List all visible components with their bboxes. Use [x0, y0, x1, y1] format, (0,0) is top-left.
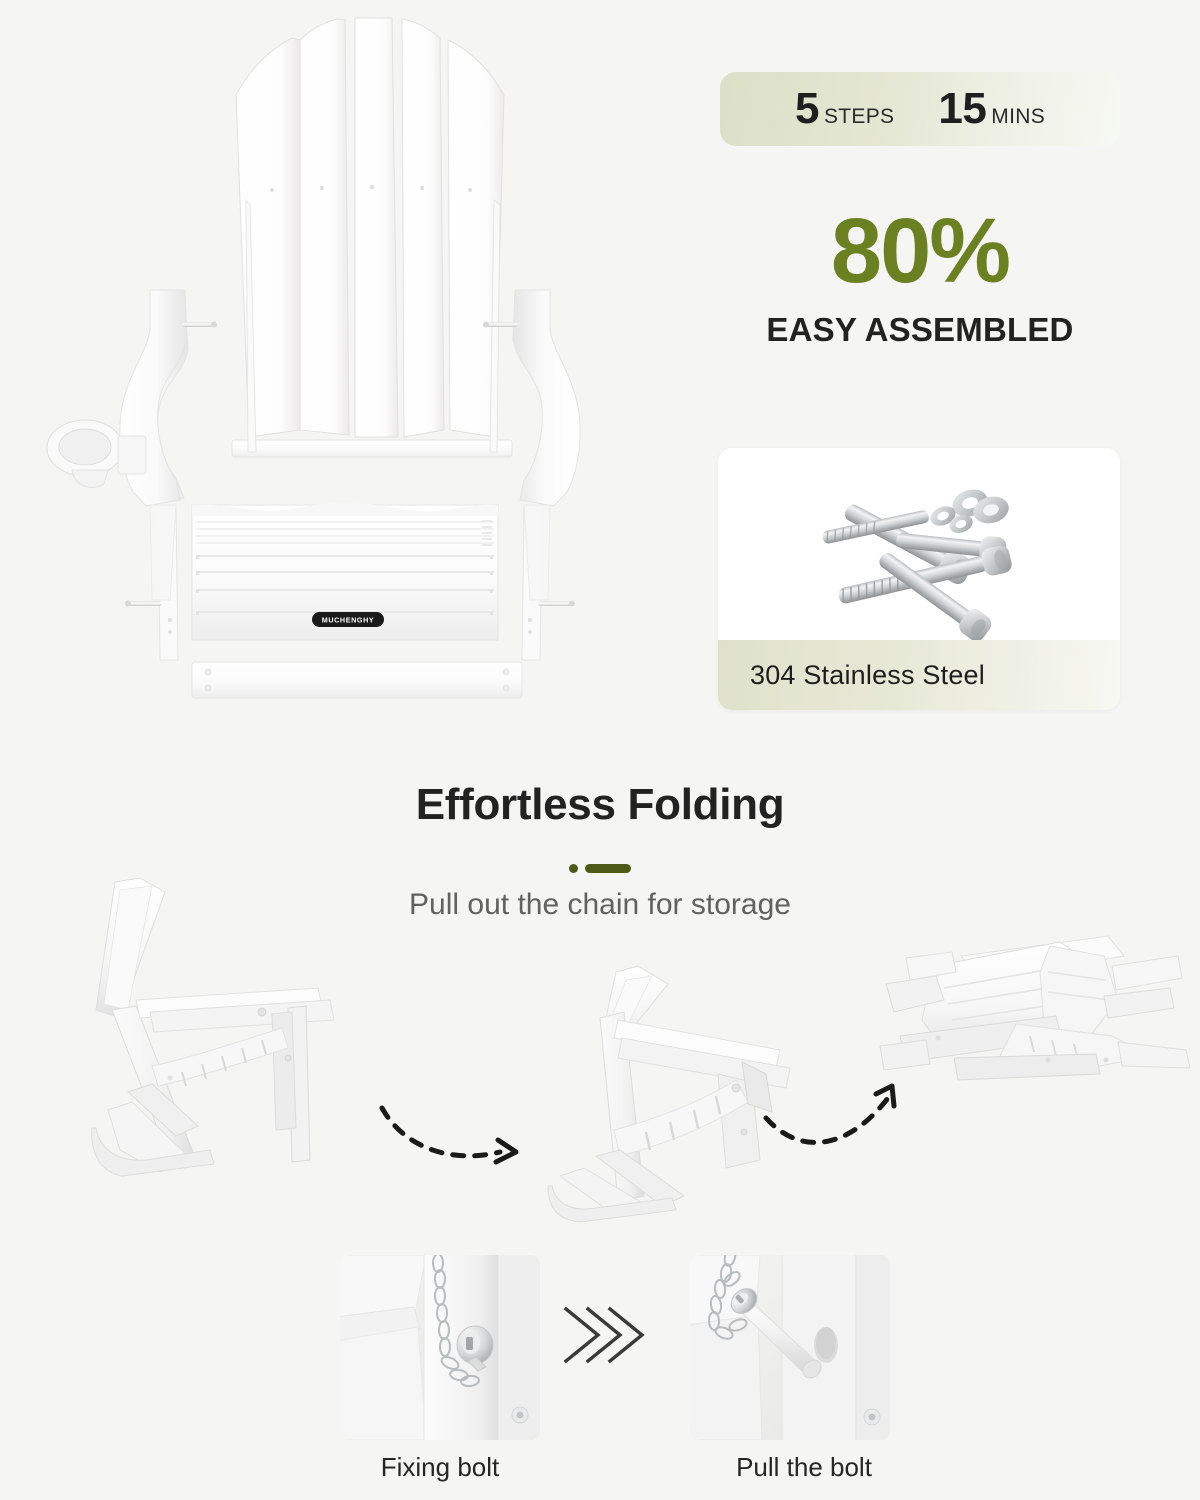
folding-sequence: [0, 860, 1200, 1260]
chair-step-2-partial: [548, 966, 790, 1222]
chair-step-3-folded: [880, 936, 1190, 1080]
steps-stat: 5 STEPS: [795, 87, 894, 131]
backrest-bottom-rail: [232, 440, 512, 457]
easy-assembled-promo: 80% EASY ASSEMBLED: [720, 205, 1120, 349]
mins-stat: 15 MINS: [938, 87, 1045, 131]
fixing-bolt-label: Fixing bolt: [320, 1452, 560, 1483]
stainless-steel-card: 304 Stainless Steel: [718, 448, 1120, 710]
bottom-crossbar: [192, 662, 522, 698]
brand-badge-text: MUCHENGHY: [322, 616, 375, 625]
pull-bolt-label: Pull the bolt: [684, 1452, 924, 1483]
steel-caption-text: 304 Stainless Steel: [750, 660, 985, 691]
mins-value: 15: [938, 87, 986, 131]
folding-title: Effortless Folding: [0, 780, 1200, 830]
seat-panel: MUCHENGHY: [192, 503, 498, 640]
flow-arrow-2-icon: [766, 1098, 888, 1142]
transition-chevrons-icon: [552, 1295, 652, 1375]
percent-value: 80%: [720, 205, 1120, 297]
chair-step-1-unfolded: [92, 878, 334, 1176]
mins-unit: MINS: [991, 105, 1045, 129]
fixing-bolt-photo: [340, 1255, 540, 1440]
exploded-chair-diagram: MUCHENGHY: [0, 0, 700, 770]
percent-caption: EASY ASSEMBLED: [720, 311, 1120, 349]
flow-arrow-1-icon: [382, 1108, 500, 1156]
steps-time-badge: 5 STEPS 15 MINS: [720, 72, 1120, 146]
steel-caption-bar: 304 Stainless Steel: [718, 640, 1120, 710]
bolt-detail-row: [0, 1255, 1200, 1500]
bolt-left-top: [182, 322, 214, 327]
bolt-left-lower: [128, 601, 162, 606]
backrest-slats: [236, 18, 504, 437]
steps-value: 5: [795, 87, 819, 131]
brand-badge: MUCHENGHY: [312, 612, 384, 627]
hardware-photo: [718, 448, 1120, 640]
pull-bolt-photo: [690, 1255, 890, 1440]
infographic-page: MUCHENGHY 5 STEPS 15 MINS 80% EASY ASSEM: [0, 0, 1200, 1500]
steps-unit: STEPS: [824, 105, 894, 129]
